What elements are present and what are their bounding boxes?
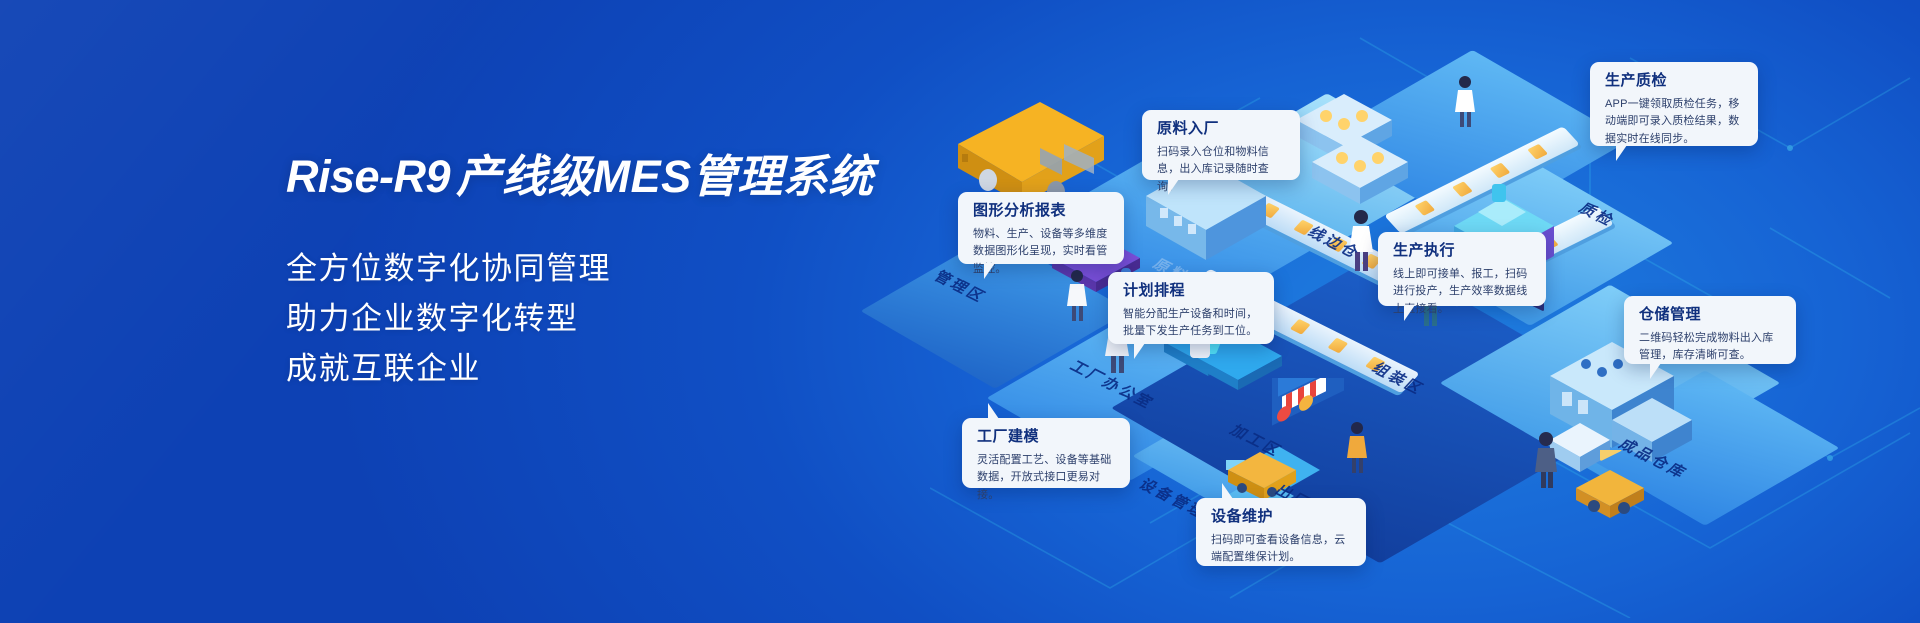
- callout-title-factory-modeling: 工厂建模: [977, 429, 1117, 446]
- worker-figure: [1342, 420, 1372, 476]
- callout-card-plan-scheduling[interactable]: 计划排程 智能分配生产设备和时间，批量下发生产任务到工位。: [1108, 272, 1274, 344]
- callout-tail-icon: [988, 403, 999, 419]
- callout-title-plan-scheduling: 计划排程: [1123, 283, 1261, 300]
- callout-tail-icon: [1168, 179, 1179, 195]
- callout-card-material-inbound[interactable]: 原料入厂 扫码录入仓位和物料信息，出入库记录随时查询！: [1142, 110, 1300, 180]
- callout-title-production-execution: 生产执行: [1393, 243, 1533, 260]
- callout-title-quality-inspection: 生产质检: [1605, 73, 1745, 90]
- callout-card-quality-inspection[interactable]: 生产质检 APP一键领取质检任务，移动端即可录入质检结果，数据实时在线同步。: [1590, 62, 1758, 146]
- page-title-cn: 产线级MES管理系统: [456, 151, 874, 202]
- callout-tail-icon: [1222, 483, 1233, 499]
- callout-title-graph-report: 图形分析报表: [973, 203, 1111, 220]
- callout-tail-icon: [1616, 145, 1627, 161]
- callout-body-factory-modeling: 灵活配置工艺、设备等基础数据，开放式接口更易对接。: [977, 452, 1117, 505]
- callout-card-equipment-maintenance[interactable]: 设备维护 扫码即可查看设备信息，云端配置维保计划。: [1196, 498, 1366, 566]
- hero-banner: Rise-R9产线级MES管理系统 全方位数字化协同管理 助力企业数字化转型 成…: [0, 0, 1920, 623]
- callout-card-warehouse-management[interactable]: 仓储管理 二维码轻松完成物料出入库管理，库存清晰可查。: [1624, 296, 1796, 364]
- callout-card-graph-report[interactable]: 图形分析报表 物料、生产、设备等多维度数据图形化呈现，实时看管监控。: [958, 192, 1124, 264]
- storage-racks-prop: [1282, 78, 1442, 208]
- page-title-en: Rise-R9: [286, 151, 450, 202]
- callout-body-equipment-maintenance: 扫码即可查看设备信息，云端配置维保计划。: [1211, 532, 1353, 568]
- callout-title-equipment-maintenance: 设备维护: [1211, 509, 1353, 526]
- worker-figure: [1530, 430, 1562, 490]
- callout-title-warehouse-management: 仓储管理: [1639, 307, 1783, 324]
- callout-tail-icon: [1404, 305, 1415, 321]
- callout-card-factory-modeling[interactable]: 工厂建模 灵活配置工艺、设备等基础数据，开放式接口更易对接。: [962, 418, 1130, 488]
- callout-body-plan-scheduling: 智能分配生产设备和时间，批量下发生产任务到工位。: [1123, 306, 1261, 342]
- callout-tail-icon: [1650, 363, 1661, 379]
- callout-body-warehouse-management: 二维码轻松完成物料出入库管理，库存清晰可查。: [1639, 330, 1783, 366]
- callout-title-material-inbound: 原料入厂: [1157, 121, 1287, 138]
- callout-tail-icon: [1134, 343, 1145, 359]
- callout-body-quality-inspection: APP一键领取质检任务，移动端即可录入质检结果，数据实时在线同步。: [1605, 96, 1745, 149]
- callout-tail-icon: [984, 263, 995, 279]
- callout-card-production-execution[interactable]: 生产执行 线上即可接单、报工，扫码进行投产，生产效率数据线上直接看。: [1378, 232, 1546, 306]
- worker-figure: [1450, 74, 1480, 130]
